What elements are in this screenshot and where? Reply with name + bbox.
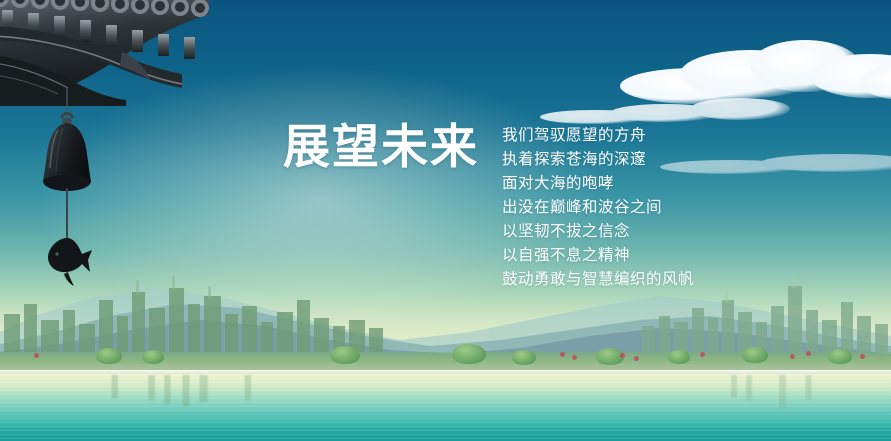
poem-line: 执着探索苍海的深邃 <box>502 147 712 171</box>
flower-icon <box>790 354 795 359</box>
poem-line: 出没在巅峰和波谷之间 <box>502 195 712 219</box>
water-shimmer <box>0 374 891 441</box>
bush-icon <box>330 346 360 364</box>
flower-icon <box>34 353 39 358</box>
flower-icon <box>634 356 639 361</box>
bush-icon <box>828 349 852 364</box>
bush-icon <box>142 350 164 364</box>
poem-line: 鼓动勇敢与智慧编织的风帆 <box>502 267 712 291</box>
bush-icon <box>452 344 486 364</box>
poem-line: 以自强不息之精神 <box>502 243 712 267</box>
bush-icon <box>512 350 536 365</box>
lake-water <box>0 374 891 441</box>
flower-icon <box>620 353 625 358</box>
page-title: 展望未来 <box>283 124 479 171</box>
poem-line: 我们驾驭愿望的方舟 <box>502 123 712 147</box>
bush-icon <box>668 350 690 364</box>
flower-icon <box>572 355 577 360</box>
poem-line: 面对大海的咆哮 <box>502 171 712 195</box>
flower-icon <box>560 352 565 357</box>
wind-bell-icon <box>40 88 110 300</box>
bush-icon <box>742 347 768 363</box>
poster-banner: 展望未来 我们驾驭愿望的方舟 执着探索苍海的深邃 面对大海的咆哮 出没在巅峰和波… <box>0 0 891 441</box>
bush-icon <box>96 348 122 364</box>
poem-line: 以坚韧不拔之信念 <box>502 219 712 243</box>
flower-icon <box>860 354 865 359</box>
flower-icon <box>700 352 705 357</box>
poem-block: 我们驾驭愿望的方舟 执着探索苍海的深邃 面对大海的咆哮 出没在巅峰和波谷之间 以… <box>502 123 712 291</box>
flower-icon <box>806 351 811 356</box>
